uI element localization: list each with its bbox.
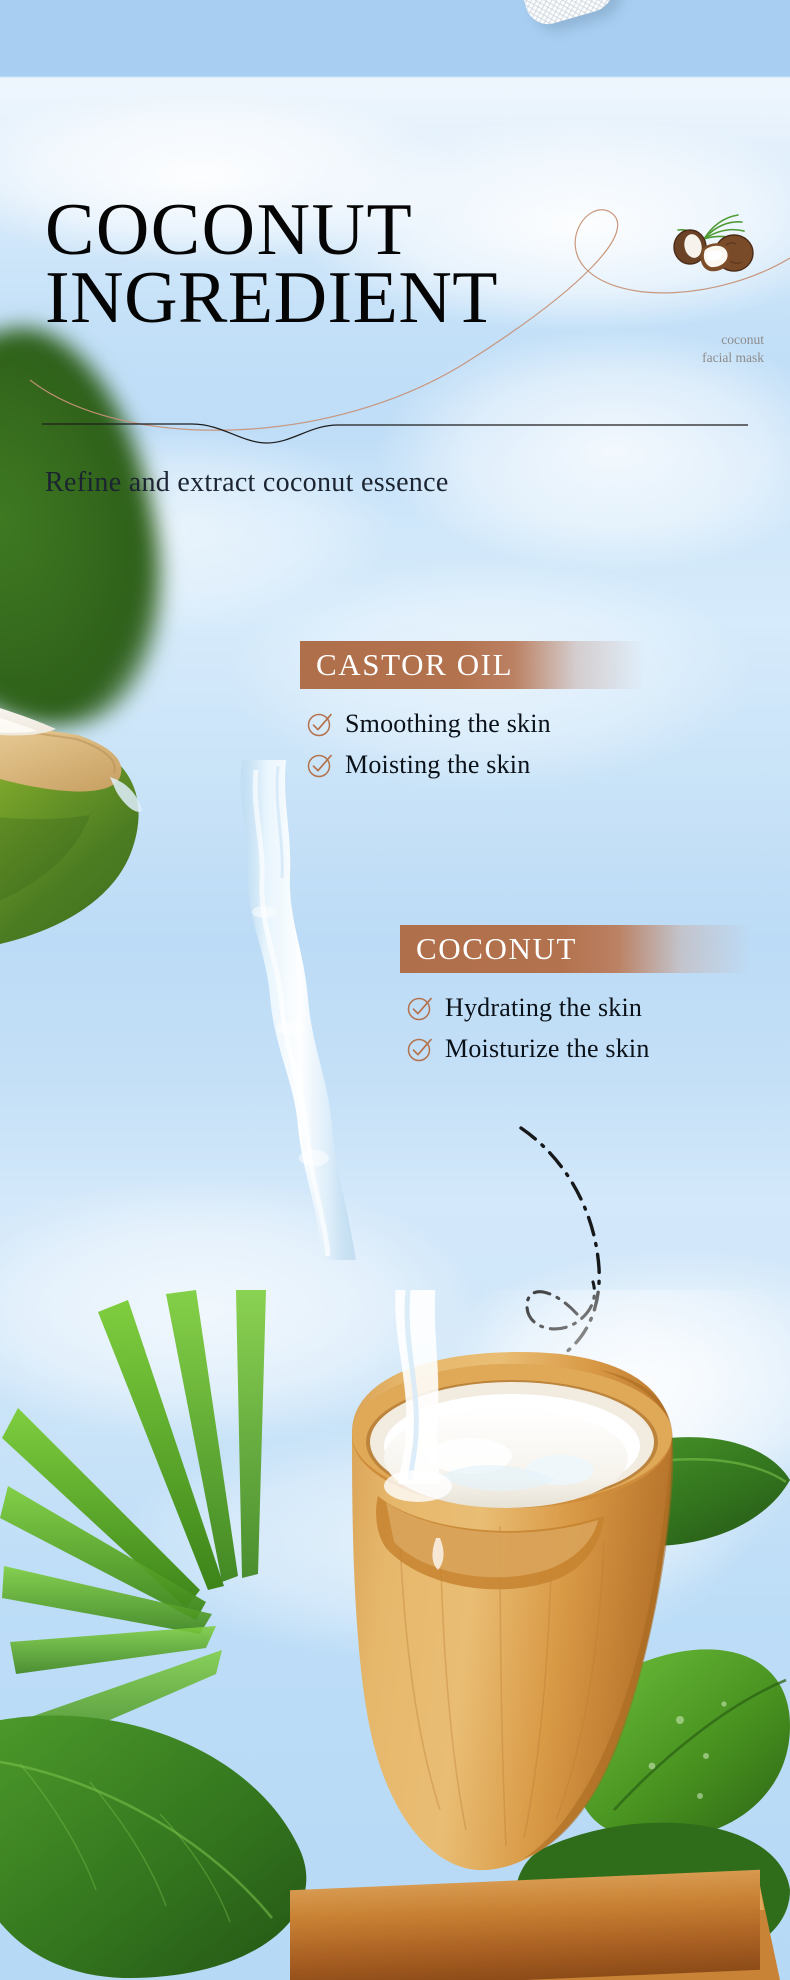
list-item: Hydrating the skin	[400, 993, 790, 1023]
ingredient-section-castor-oil: CASTOR OIL Smoothing the skin Moisting t…	[300, 641, 770, 791]
brand-lockup: coconut facial mask	[650, 205, 770, 367]
list-item-label: Moisting the skin	[345, 750, 530, 780]
list-item-label: Smoothing the skin	[345, 709, 551, 739]
bullet-list: Smoothing the skin Moisting the skin	[300, 709, 770, 780]
headline-line-2: INGREDIENT	[45, 264, 685, 332]
check-circle-icon	[406, 994, 434, 1022]
coconut-halves-icon	[664, 205, 756, 287]
list-item: Moisting the skin	[300, 750, 770, 780]
headline-line-1: COCONUT	[45, 196, 685, 264]
list-item: Smoothing the skin	[300, 709, 770, 739]
subtitle: Refine and extract coconut essence	[45, 467, 449, 499]
badge-label: COCONUT	[416, 931, 577, 967]
check-circle-icon	[306, 751, 334, 779]
check-circle-icon	[406, 1035, 434, 1063]
ingredient-section-coconut: COCONUT Hydrating the skin Moisturize th…	[400, 925, 790, 1075]
badge-coconut: COCONUT	[400, 925, 750, 973]
badge-label: CASTOR OIL	[316, 647, 513, 683]
bullet-list: Hydrating the skin Moisturize the skin	[400, 993, 790, 1064]
check-circle-icon	[306, 710, 334, 738]
brand-name-line-1: coconut	[650, 331, 764, 349]
brand-name-line-2: facial mask	[650, 349, 764, 367]
sun-glow	[430, 1290, 790, 1590]
top-color-band	[0, 0, 790, 76]
wave-divider	[42, 415, 748, 451]
badge-castor-oil: CASTOR OIL	[300, 641, 645, 689]
list-item: Moisturize the skin	[400, 1034, 790, 1064]
list-item-label: Moisturize the skin	[445, 1034, 650, 1064]
poster-canvas: COCONUT INGREDIENT	[0, 0, 790, 1980]
brand-name: coconut facial mask	[650, 331, 770, 367]
list-item-label: Hydrating the skin	[445, 993, 642, 1023]
wooden-board-base	[290, 1870, 760, 1980]
page-title: COCONUT INGREDIENT	[45, 196, 685, 332]
